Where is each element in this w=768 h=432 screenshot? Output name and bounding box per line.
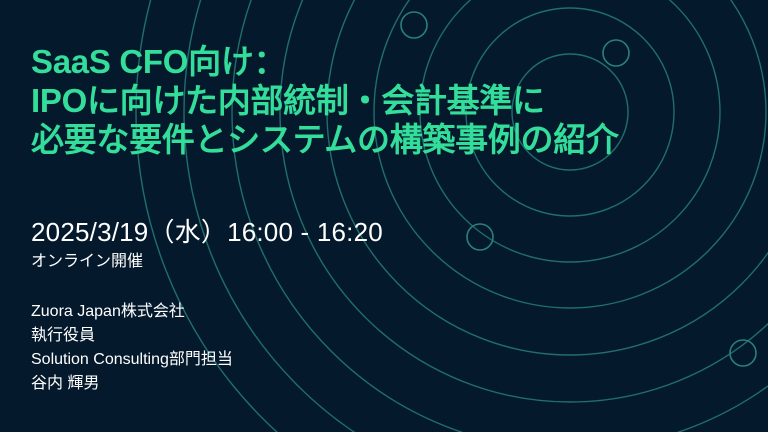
schedule-block: 2025/3/19（水）16:00 - 16:20 オンライン開催 — [31, 216, 383, 273]
page-title: SaaS CFO向け： IPOに向けた内部統制・会計基準に 必要な要件とシステム… — [31, 42, 741, 159]
speaker-role: 執行役員 — [31, 324, 233, 348]
speaker-name: 谷内 輝男 — [31, 372, 233, 396]
slide-content: SaaS CFO向け： IPOに向けた内部統制・会計基準に 必要な要件とシステム… — [0, 0, 768, 432]
title-line-1: SaaS CFO向け： — [31, 42, 741, 81]
webinar-title-slide: SaaS CFO向け： IPOに向けた内部統制・会計基準に 必要な要件とシステム… — [0, 0, 768, 432]
speaker-block: Zuora Japan株式会社 執行役員 Solution Consulting… — [31, 300, 233, 396]
title-line-2: IPOに向けた内部統制・会計基準に — [31, 81, 741, 120]
event-venue: オンライン開催 — [31, 251, 383, 273]
speaker-company: Zuora Japan株式会社 — [31, 300, 233, 324]
title-line-3: 必要な要件とシステムの構築事例の紹介 — [31, 120, 741, 159]
speaker-department: Solution Consulting部門担当 — [31, 348, 233, 372]
event-datetime: 2025/3/19（水）16:00 - 16:20 — [31, 216, 383, 248]
